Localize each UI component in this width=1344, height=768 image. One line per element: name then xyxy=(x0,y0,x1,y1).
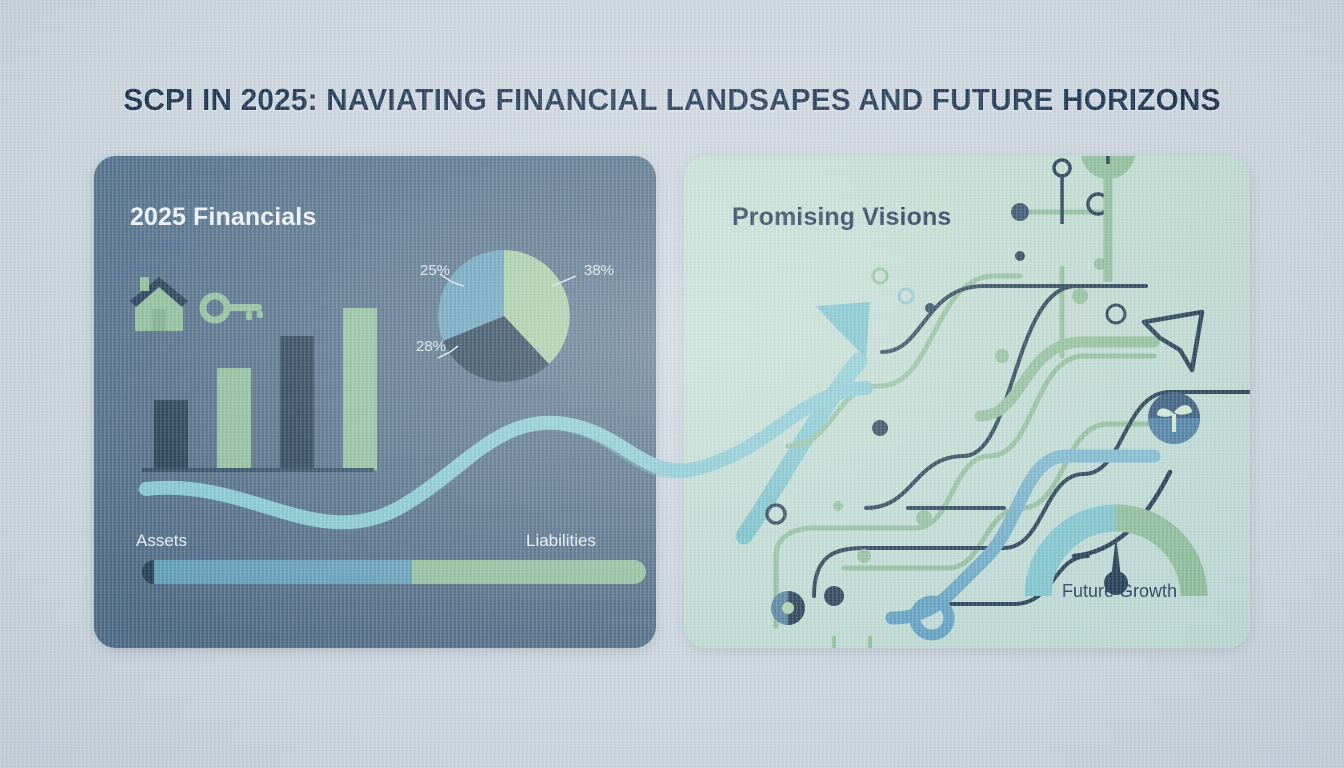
bar-3 xyxy=(280,336,314,470)
pie-chart xyxy=(438,250,576,382)
house-icon xyxy=(130,277,188,331)
sprout-badge-navy-icon xyxy=(1148,392,1200,444)
assets-liabilities-bar xyxy=(142,560,646,584)
right-panel-graphics xyxy=(684,156,1250,648)
pie-label-38: 38% xyxy=(584,262,614,279)
bar-4 xyxy=(343,308,377,470)
page-title: SCPI IN 2025: NAVIATING FINANCIAL LANDSA… xyxy=(27,82,1317,118)
segment-assets xyxy=(156,560,412,584)
segment-liabilities xyxy=(412,560,646,584)
bar-1 xyxy=(154,400,188,470)
assets-label: Assets xyxy=(136,531,187,551)
green-circuit-traces xyxy=(776,212,1154,626)
bar-chart xyxy=(142,308,377,472)
bar-2 xyxy=(217,368,251,470)
gauge-label-future-growth: Future Growth xyxy=(1062,581,1177,602)
key-icon xyxy=(203,296,263,320)
right-panel-promising-visions: Promising Visions xyxy=(684,156,1250,648)
sprout-badge-green-icon xyxy=(1081,156,1135,179)
bar-chart-baseline xyxy=(142,468,374,472)
pie-label-25: 25% xyxy=(420,262,450,279)
left-panel-2025-financials: 2025 Financials xyxy=(94,156,656,648)
liabilities-label: Liabilities xyxy=(526,531,596,551)
teal-growth-arrow-icon xyxy=(744,302,870,536)
left-panel-graphics xyxy=(94,156,656,648)
infographic-canvas: SCPI IN 2025: NAVIATING FINANCIAL LANDSA… xyxy=(0,0,1344,768)
pie-label-28: 28% xyxy=(416,338,446,355)
